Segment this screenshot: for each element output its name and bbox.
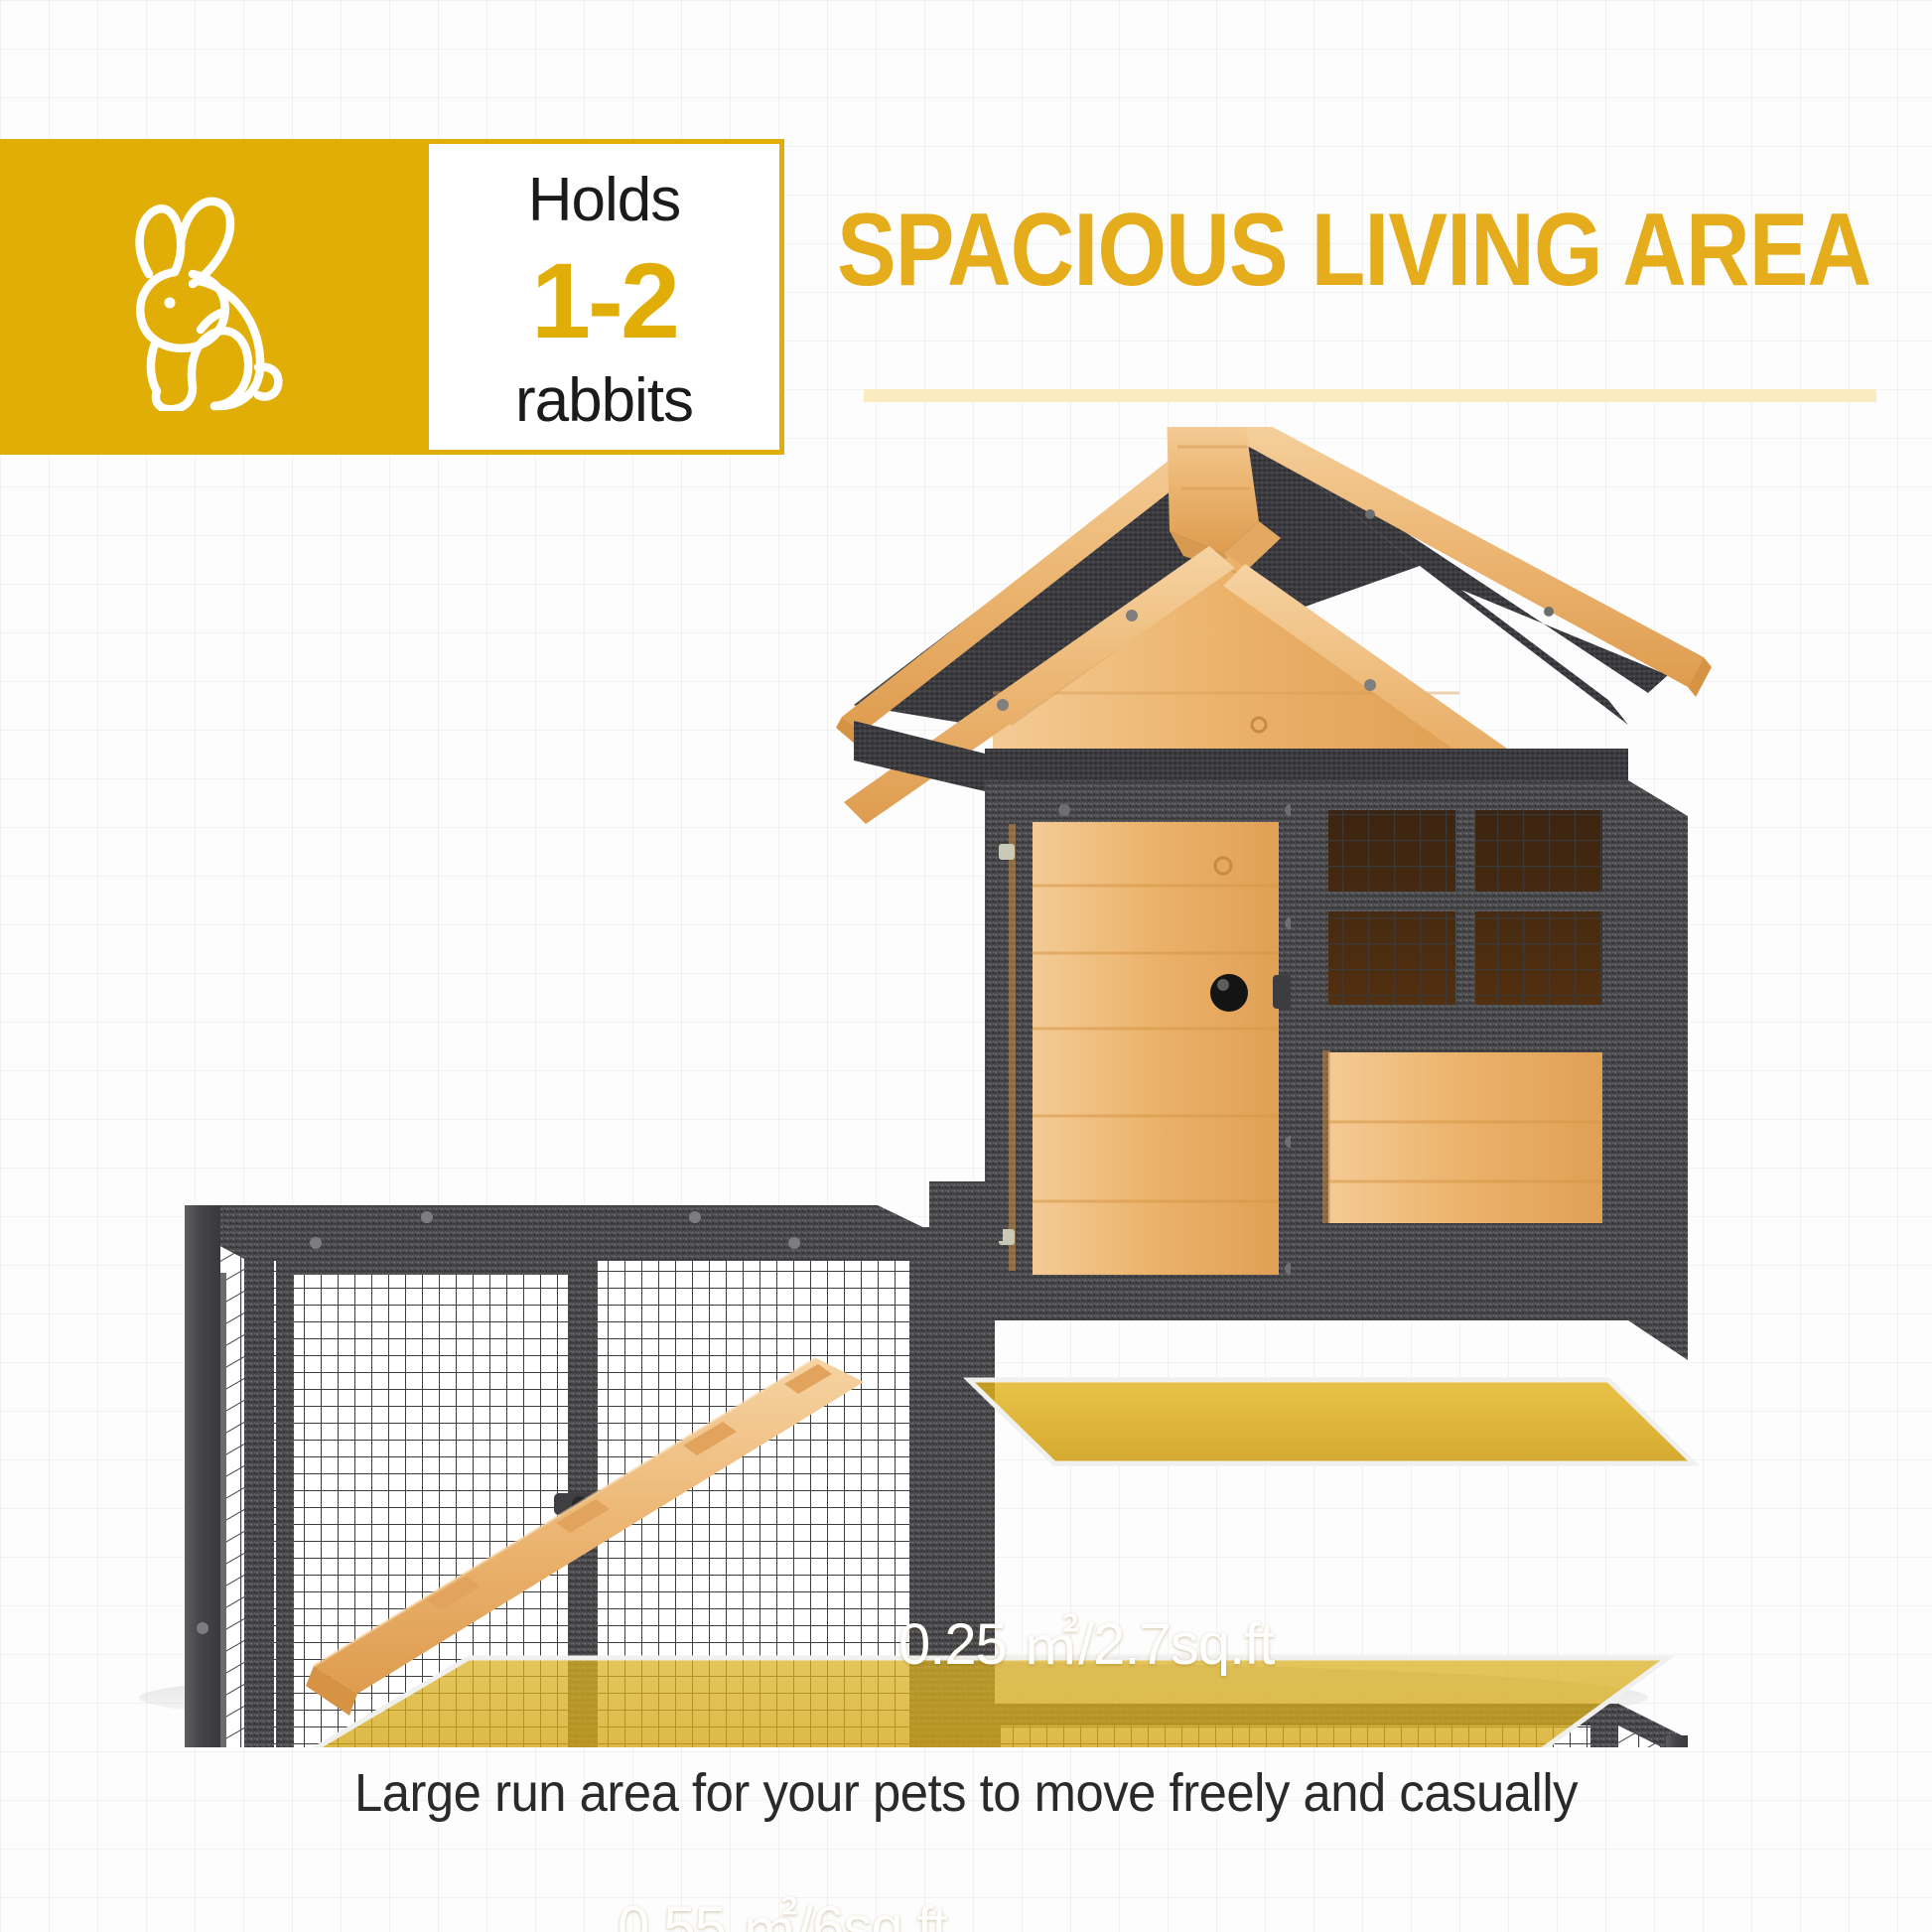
rabbit-outline-icon — [83, 183, 342, 411]
badge-line-holds: Holds — [528, 170, 681, 231]
page-title: SPACIOUS LIVING AREA — [837, 199, 1767, 302]
caption-text: Large run area for your pets to move fre… — [58, 1762, 1873, 1824]
title-divider — [864, 389, 1876, 402]
badge-text-panel: Holds 1-2 rabbits — [424, 139, 784, 455]
badge-icon-panel — [0, 139, 424, 455]
upper-area-label: 0.25 ㎡/2.7sq.ft — [898, 1616, 1274, 1674]
hutch-illustration — [0, 427, 1932, 1747]
lower-area-label: 0.55 ㎡/6sq.ft — [618, 1899, 947, 1932]
badge-line-rabbits: rabbits — [515, 370, 693, 432]
badge-capacity-count: 1-2 — [531, 247, 677, 354]
product-photo: 0.25 ㎡/2.7sq.ft 0.55 ㎡/6sq.ft — [0, 427, 1932, 1747]
infographic-page: Holds 1-2 rabbits SPACIOUS LIVING AREA — [0, 0, 1932, 1932]
capacity-badge: Holds 1-2 rabbits — [0, 139, 784, 455]
